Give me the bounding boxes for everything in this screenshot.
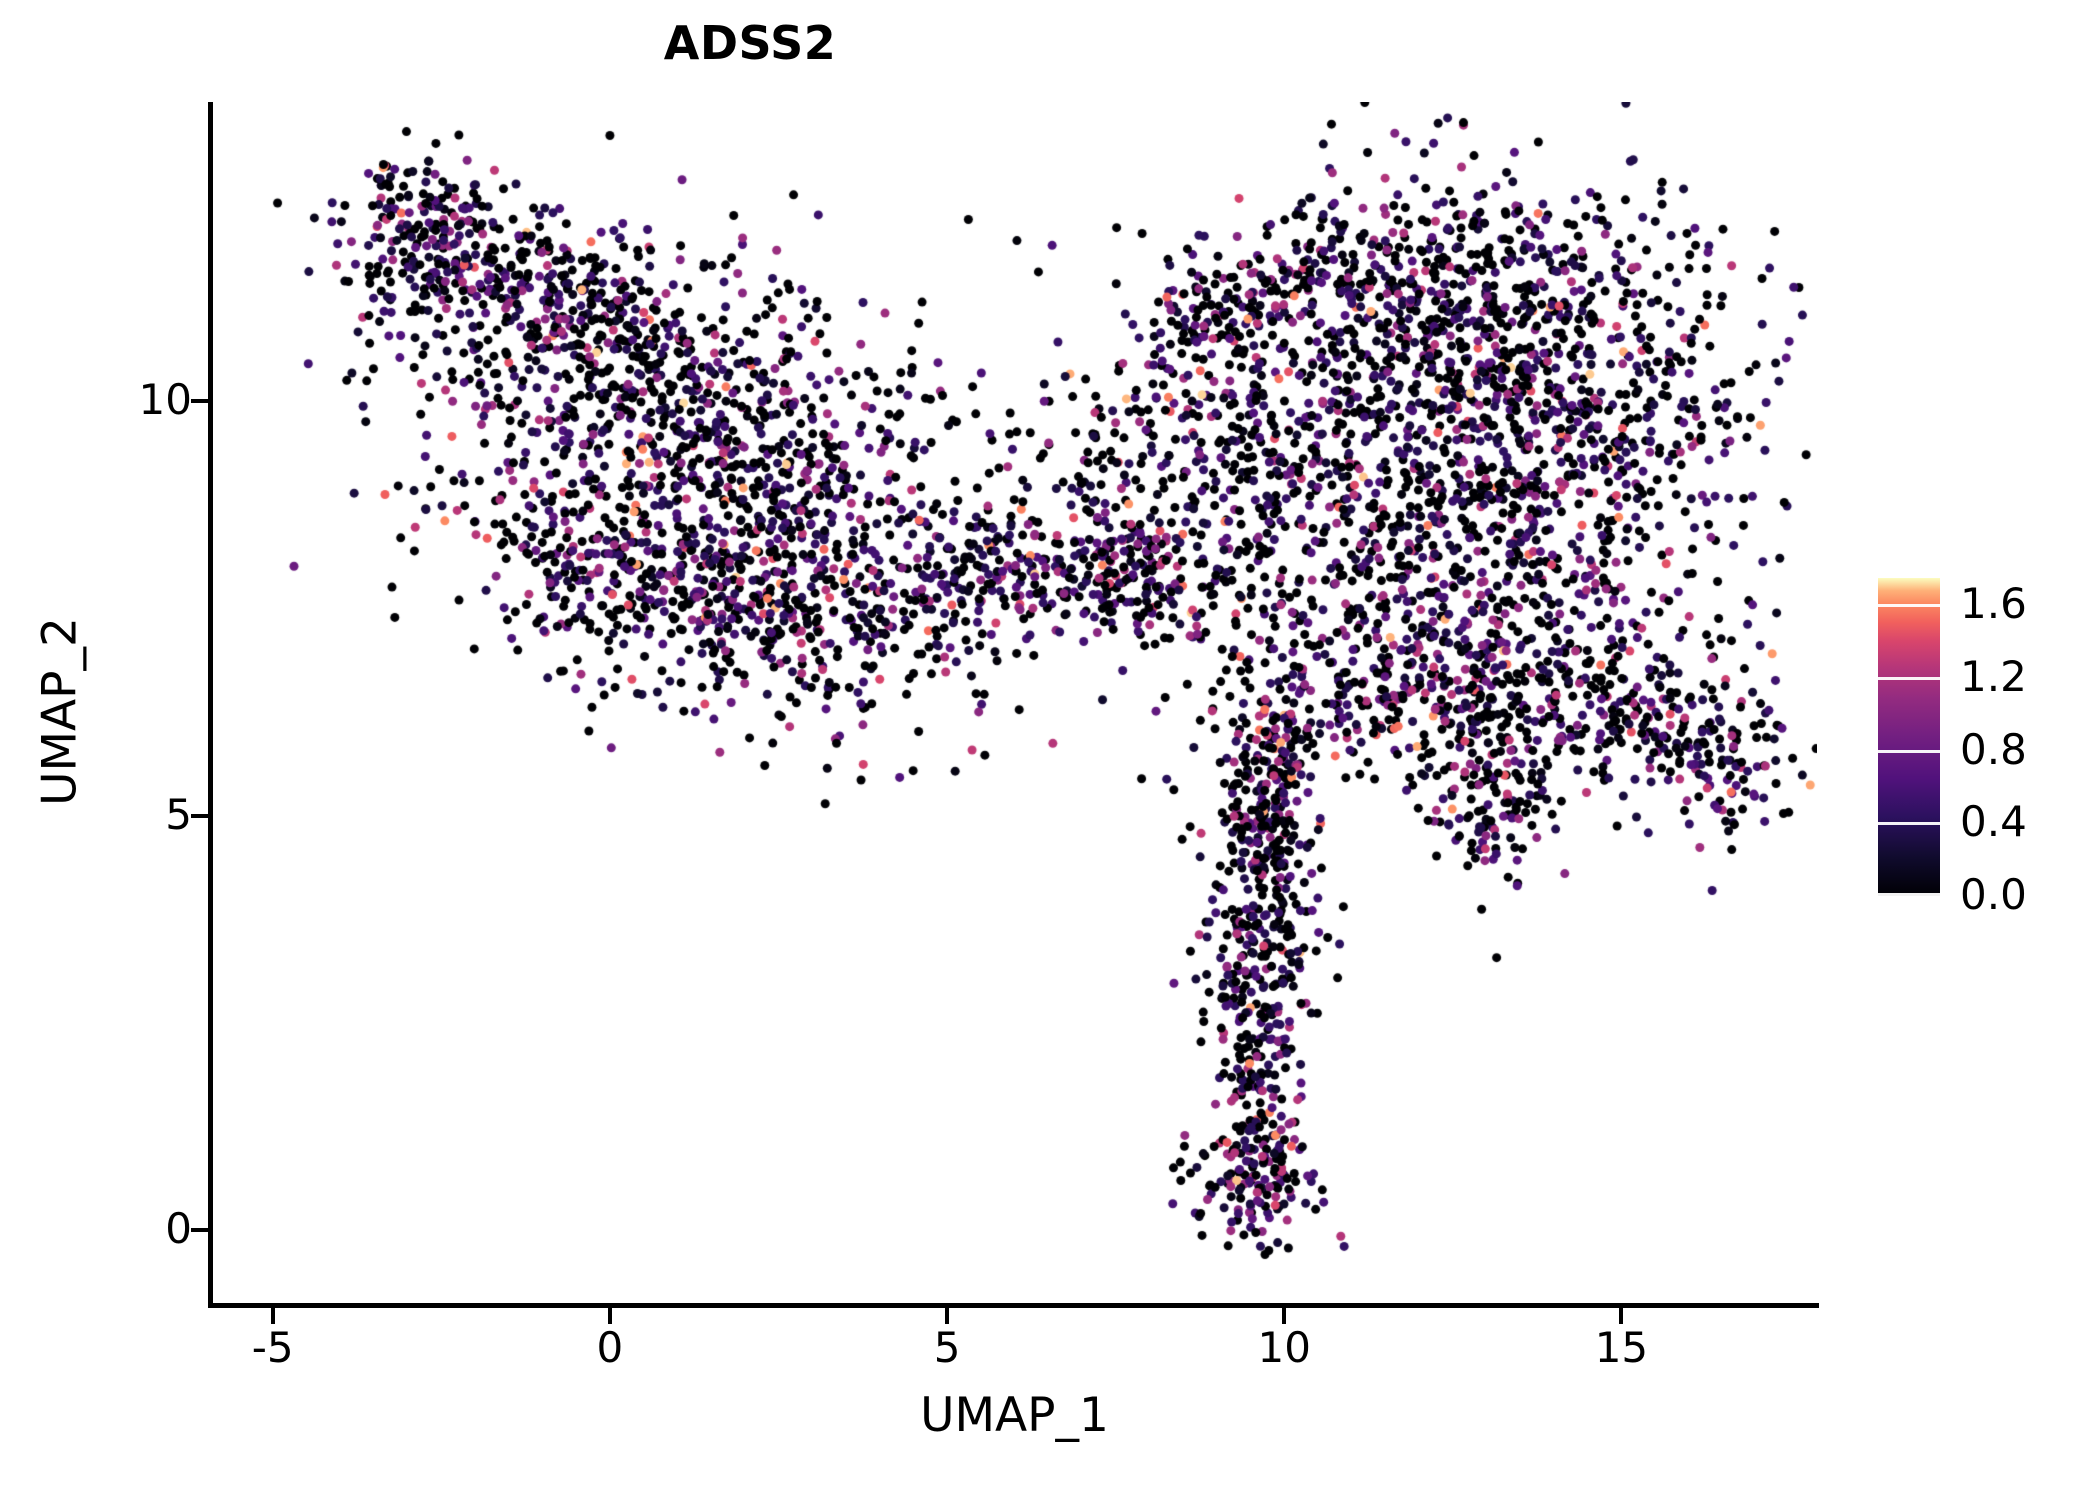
x-tick-label: 5 [867,1327,1027,1369]
x-tick-mark [271,1307,275,1324]
x-axis-label: UMAP_1 [212,1392,1817,1439]
x-axis-spine [208,1303,1819,1308]
plot-axes-area [212,102,1817,1305]
x-tick-label: 0 [530,1327,690,1369]
colorbar-tick-mark [1878,822,1940,825]
colorbar-tick-mark [1878,604,1940,607]
x-tick-label: 15 [1541,1327,1701,1369]
x-tick-mark [945,1307,949,1324]
colorbar-gradient-strip [1878,578,1940,896]
colorbar-tick-label: 1.2 [1960,656,2027,698]
y-tick-label: 10 [0,379,192,421]
y-axis-label: UMAP_2 [37,312,84,1112]
x-tick-label: -5 [193,1327,353,1369]
colorbar-tick-label: 0.0 [1960,874,2027,916]
y-axis-spine [208,102,213,1307]
colorbar-tick-label: 0.8 [1960,729,2027,771]
x-tick-mark [1619,1307,1623,1324]
y-tick-mark [191,1228,208,1232]
y-tick-mark [191,814,208,818]
y-tick-label: 5 [0,794,192,836]
y-tick-label: 0 [0,1208,192,1250]
colorbar-tick-label: 1.6 [1960,583,2027,625]
colorbar-tick-mark [1878,750,1940,753]
colorbar-tick-mark [1878,893,1940,896]
x-tick-mark [1282,1307,1286,1324]
umap-feature-plot-figure: ADSS2 -5051015 0510 UMAP_1 UMAP_2 0.00.4… [0,0,2100,1500]
x-tick-mark [608,1307,612,1324]
scatter-point-cloud [212,102,1817,1305]
x-tick-label: 10 [1204,1327,1364,1369]
y-tick-mark [191,399,208,403]
page-title: ADSS2 [0,20,1500,66]
colorbar-tick-mark [1878,677,1940,680]
colorbar-legend[interactable]: 0.00.40.81.21.6 [1878,578,2088,898]
colorbar-tick-label: 0.4 [1960,801,2027,843]
